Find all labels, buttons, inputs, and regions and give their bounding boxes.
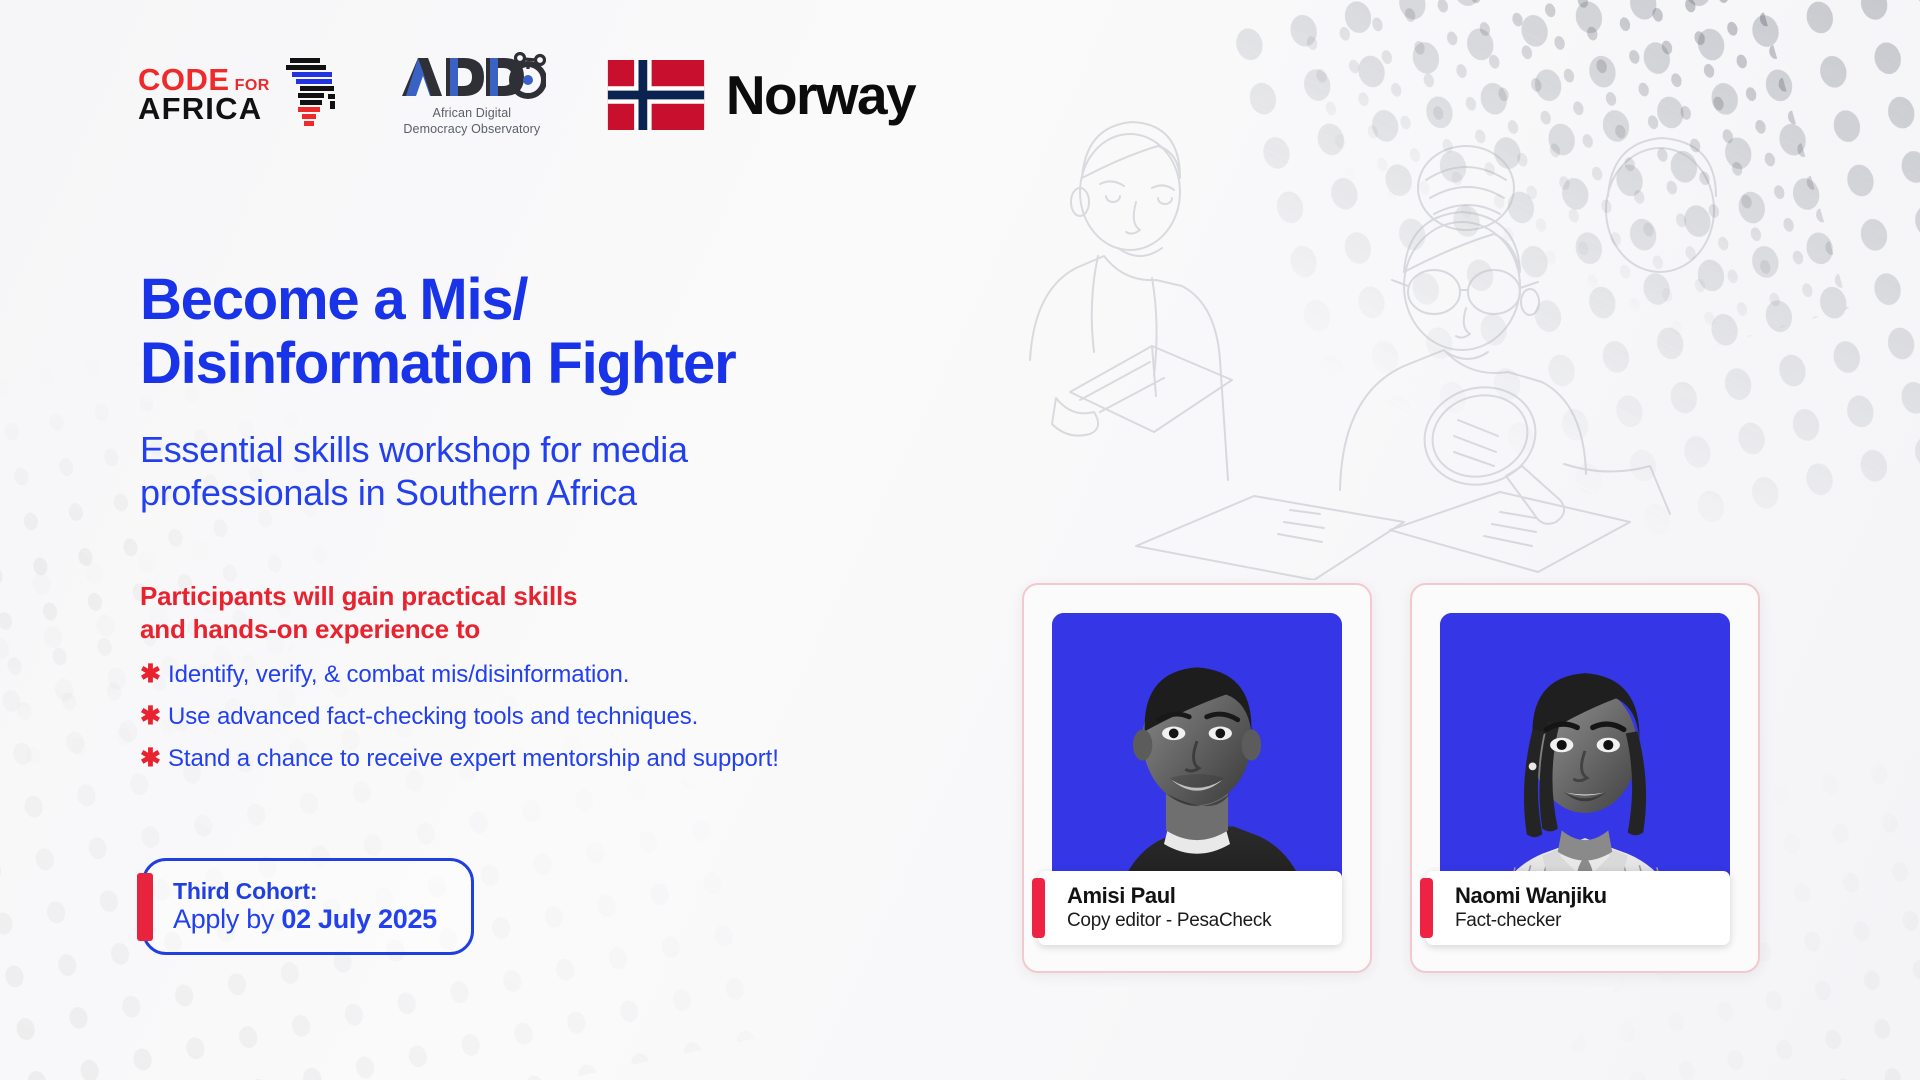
page-subtitle: Essential skills workshop for media prof… [140, 428, 688, 514]
poster-content: CODE FOR AFRICA [0, 0, 1920, 1080]
plate-accent-bar [1032, 878, 1045, 938]
speaker-role: Copy editor - PesaCheck [1067, 910, 1271, 933]
benefits-list: ✱ Identify, verify, & combat mis/disinfo… [140, 660, 779, 774]
addo-subtitle: African Digital Democracy Observatory [403, 106, 540, 137]
cohort-label: Third Cohort: [173, 878, 437, 905]
addo-logo: African Digital Democracy Observatory [398, 52, 546, 137]
norway-flag-icon [604, 60, 708, 130]
page-title: Become a Mis/ Disinformation Fighter [140, 268, 736, 396]
code-for-africa-wordmark: CODE FOR AFRICA [138, 66, 270, 124]
speaker-card-list: Amisi Paul Copy editor - PesaCheck [1022, 583, 1760, 973]
badge-text: Third Cohort: Apply by 02 July 2025 [173, 878, 437, 936]
benefits-heading-line2: and hands-on experience to [140, 614, 480, 644]
headline-line2: Disinformation Fighter [140, 331, 736, 396]
speaker-card: Naomi Wanjiku Fact-checker [1410, 583, 1760, 973]
asterisk-icon: ✱ [140, 746, 156, 771]
apply-prefix: Apply by [173, 904, 281, 934]
asterisk-icon: ✱ [140, 662, 156, 687]
headline-line1: Become a Mis/ [140, 267, 527, 332]
addo-subtitle-line1: African Digital [403, 106, 540, 122]
badge-accent-bar [137, 873, 153, 941]
list-item: ✱ Use advanced fact-checking tools and t… [140, 702, 779, 732]
deadline-date: 02 July 2025 [281, 904, 437, 934]
benefits-heading-line1: Participants will gain practical skills [140, 581, 577, 611]
apply-deadline-badge[interactable]: Third Cohort: Apply by 02 July 2025 [142, 858, 474, 955]
cfa-africa-text: AFRICA [138, 95, 270, 124]
speaker-card: Amisi Paul Copy editor - PesaCheck [1022, 583, 1372, 973]
list-item-label: Identify, verify, & combat mis/disinform… [168, 660, 629, 690]
norway-logo: Norway [604, 60, 915, 130]
speaker-role: Fact-checker [1455, 910, 1607, 933]
list-item-label: Use advanced fact-checking tools and tec… [168, 702, 698, 732]
addo-subtitle-line2: Democracy Observatory [403, 122, 540, 138]
speaker-name-plate: Naomi Wanjiku Fact-checker [1426, 871, 1730, 945]
list-item-label: Stand a chance to receive expert mentors… [168, 744, 779, 774]
speaker-name-plate: Amisi Paul Copy editor - PesaCheck [1038, 871, 1342, 945]
benefits-heading: Participants will gain practical skills … [140, 580, 577, 647]
addo-wordmark-icon [398, 52, 546, 104]
norway-wordmark: Norway [726, 63, 915, 127]
list-item: ✱ Identify, verify, & combat mis/disinfo… [140, 660, 779, 690]
plate-text: Naomi Wanjiku Fact-checker [1455, 883, 1607, 932]
speaker-name: Naomi Wanjiku [1455, 883, 1607, 909]
code-for-africa-logo: CODE FOR AFRICA [138, 54, 340, 136]
apply-line: Apply by 02 July 2025 [173, 904, 437, 935]
plate-text: Amisi Paul Copy editor - PesaCheck [1067, 883, 1271, 932]
logo-row: CODE FOR AFRICA [138, 52, 915, 137]
plate-accent-bar [1420, 878, 1433, 938]
list-item: ✱ Stand a chance to receive expert mento… [140, 744, 779, 774]
asterisk-icon: ✱ [140, 704, 156, 729]
speaker-name: Amisi Paul [1067, 883, 1271, 909]
africa-bars-icon [278, 54, 340, 136]
subhead-line1: Essential skills workshop for media [140, 429, 688, 470]
subhead-line2: professionals in Southern Africa [140, 472, 637, 513]
